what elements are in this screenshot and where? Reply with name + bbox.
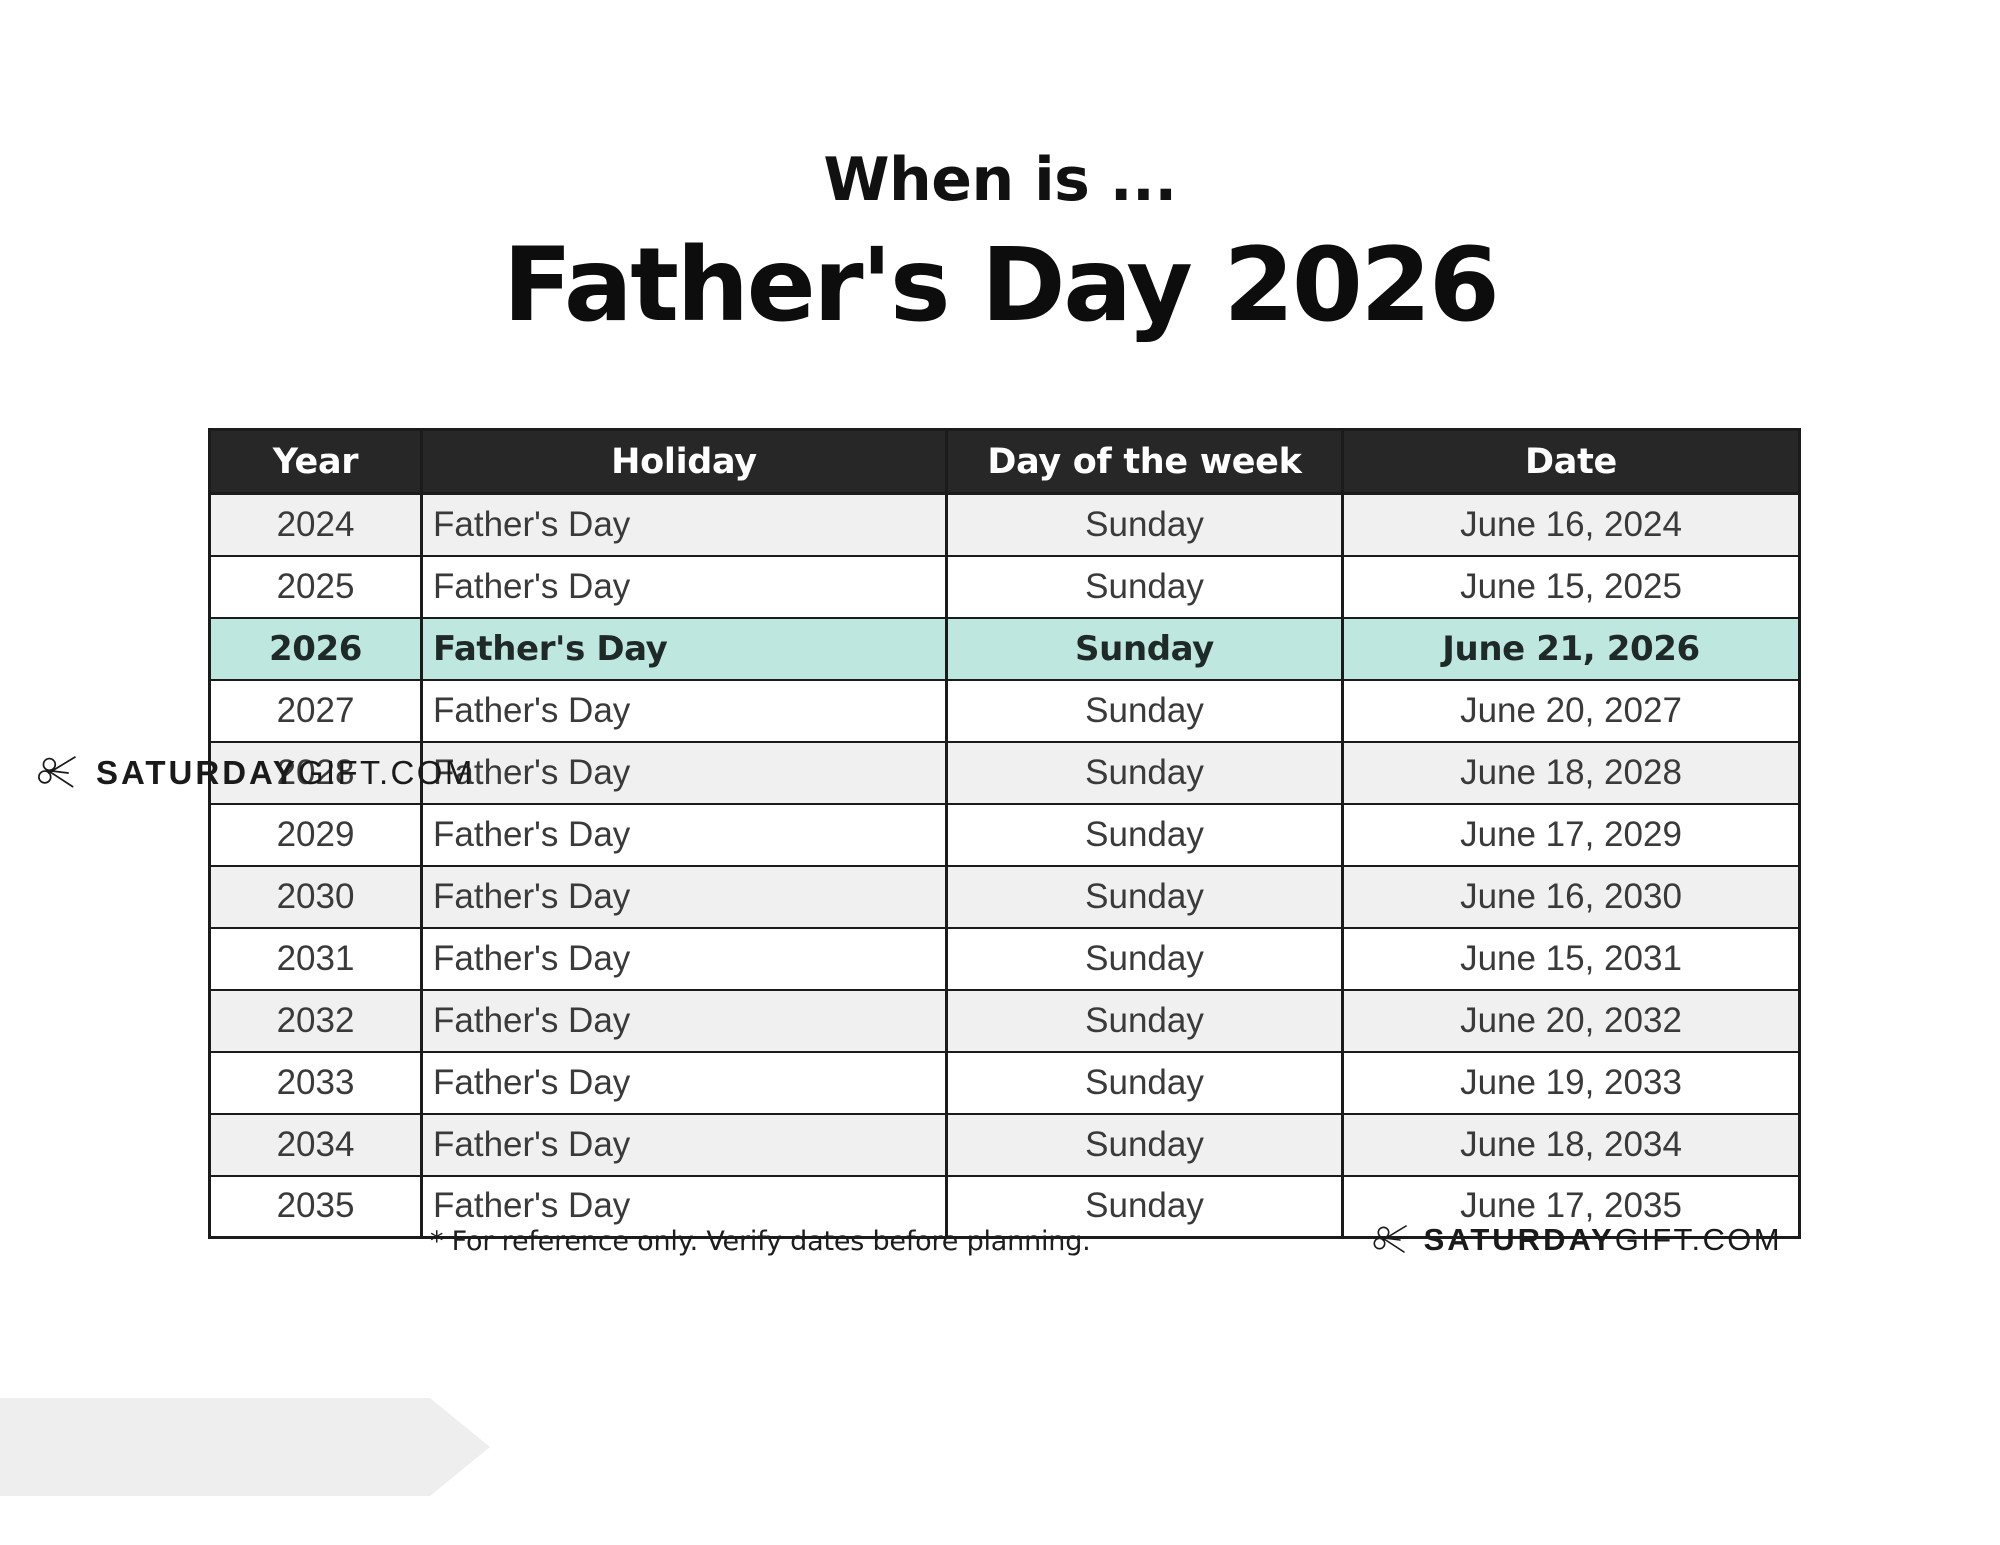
table-footer: * For reference only. Verify dates befor… bbox=[208, 1222, 1798, 1276]
table-row: 2034Father's DaySundayJune 18, 2034 bbox=[210, 1114, 1800, 1176]
scissors-icon bbox=[1370, 1223, 1414, 1257]
cell-day: Sunday bbox=[947, 1052, 1343, 1114]
cell-year: 2025 bbox=[210, 556, 422, 618]
table-row: 2030Father's DaySundayJune 16, 2030 bbox=[210, 866, 1800, 928]
cell-holiday: Father's Day bbox=[422, 928, 947, 990]
cell-date: June 21, 2026 bbox=[1343, 618, 1800, 680]
cell-date: June 16, 2030 bbox=[1343, 866, 1800, 928]
cell-holiday: Father's Day bbox=[422, 618, 947, 680]
cell-year: 2031 bbox=[210, 928, 422, 990]
cell-year: 2024 bbox=[210, 494, 422, 556]
poster-page: When is ... Father's Day 2026 Year Holid… bbox=[0, 0, 2000, 1545]
table-header-row: Year Holiday Day of the week Date bbox=[210, 430, 1800, 494]
cell-holiday: Father's Day bbox=[422, 680, 947, 742]
brand-logo-inline[interactable]: SATURDAYGIFT.COM bbox=[1370, 1222, 1782, 1258]
cell-year: 2034 bbox=[210, 1114, 422, 1176]
table-head: Year Holiday Day of the week Date bbox=[210, 430, 1800, 494]
cell-date: June 20, 2032 bbox=[1343, 990, 1800, 1052]
cell-holiday: Father's Day bbox=[422, 804, 947, 866]
cell-holiday: Father's Day bbox=[422, 866, 947, 928]
cell-day: Sunday bbox=[947, 556, 1343, 618]
table-row: 2033Father's DaySundayJune 19, 2033 bbox=[210, 1052, 1800, 1114]
table-row: 2025Father's DaySundayJune 15, 2025 bbox=[210, 556, 1800, 618]
table-row: 2024Father's DaySundayJune 16, 2024 bbox=[210, 494, 1800, 556]
cell-holiday: Father's Day bbox=[422, 494, 947, 556]
cell-year: 2027 bbox=[210, 680, 422, 742]
cell-day: Sunday bbox=[947, 618, 1343, 680]
column-header-date: Date bbox=[1343, 430, 1800, 494]
cell-day: Sunday bbox=[947, 866, 1343, 928]
cell-holiday: Father's Day bbox=[422, 1114, 947, 1176]
cell-date: June 20, 2027 bbox=[1343, 680, 1800, 742]
cell-date: June 15, 2031 bbox=[1343, 928, 1800, 990]
table-row: 2031Father's DaySundayJune 15, 2031 bbox=[210, 928, 1800, 990]
cell-year: 2032 bbox=[210, 990, 422, 1052]
column-header-holiday: Holiday bbox=[422, 430, 947, 494]
brand-logo-text: SATURDAYGIFT.COM bbox=[1424, 1222, 1782, 1258]
cell-holiday: Father's Day bbox=[422, 990, 947, 1052]
kicker-text: When is ... bbox=[0, 150, 2000, 210]
scissors-icon bbox=[34, 753, 84, 793]
cell-year: 2029 bbox=[210, 804, 422, 866]
cell-date: June 18, 2028 bbox=[1343, 742, 1800, 804]
cell-year: 2026 bbox=[210, 618, 422, 680]
brand-name-bold: SATURDAY bbox=[96, 754, 298, 791]
cell-date: June 16, 2024 bbox=[1343, 494, 1800, 556]
cell-holiday: Father's Day bbox=[422, 556, 947, 618]
page-title: Father's Day 2026 bbox=[0, 232, 2000, 339]
column-header-year: Year bbox=[210, 430, 422, 494]
cell-day: Sunday bbox=[947, 1114, 1343, 1176]
table-row: 2029Father's DaySundayJune 17, 2029 bbox=[210, 804, 1800, 866]
brand-name-bold: SATURDAY bbox=[1424, 1222, 1615, 1257]
cell-date: June 18, 2034 bbox=[1343, 1114, 1800, 1176]
table-row-highlighted: 2026Father's DaySundayJune 21, 2026 bbox=[210, 618, 1800, 680]
cell-date: June 19, 2033 bbox=[1343, 1052, 1800, 1114]
cell-day: Sunday bbox=[947, 928, 1343, 990]
cell-day: Sunday bbox=[947, 494, 1343, 556]
cell-day: Sunday bbox=[947, 680, 1343, 742]
table-body: 2024Father's DaySundayJune 16, 20242025F… bbox=[210, 494, 1800, 1238]
cell-date: June 17, 2029 bbox=[1343, 804, 1800, 866]
holiday-table-wrap: Year Holiday Day of the week Date 2024Fa… bbox=[208, 428, 1798, 1239]
cell-day: Sunday bbox=[947, 742, 1343, 804]
column-header-day: Day of the week bbox=[947, 430, 1343, 494]
holiday-table: Year Holiday Day of the week Date 2024Fa… bbox=[208, 428, 1801, 1239]
brand-name-light: GIFT.COM bbox=[1615, 1222, 1782, 1257]
cell-year: 2030 bbox=[210, 866, 422, 928]
cell-holiday: Father's Day bbox=[422, 1052, 947, 1114]
disclaimer-note: * For reference only. Verify dates befor… bbox=[430, 1226, 1091, 1257]
cell-year: 2033 bbox=[210, 1052, 422, 1114]
brand-banner bbox=[0, 1398, 490, 1496]
cell-holiday: Father's Day bbox=[422, 742, 947, 804]
cell-date: June 15, 2025 bbox=[1343, 556, 1800, 618]
brand-banner-content[interactable]: SATURDAYGIFT.COM bbox=[34, 753, 475, 793]
table-row: 2027Father's DaySundayJune 20, 2027 bbox=[210, 680, 1800, 742]
brand-name-light: GIFT.COM bbox=[298, 754, 475, 791]
heading-block: When is ... Father's Day 2026 bbox=[0, 150, 2000, 339]
table-row: 2032Father's DaySundayJune 20, 2032 bbox=[210, 990, 1800, 1052]
cell-day: Sunday bbox=[947, 804, 1343, 866]
brand-logo-text: SATURDAYGIFT.COM bbox=[96, 754, 475, 792]
cell-day: Sunday bbox=[947, 990, 1343, 1052]
